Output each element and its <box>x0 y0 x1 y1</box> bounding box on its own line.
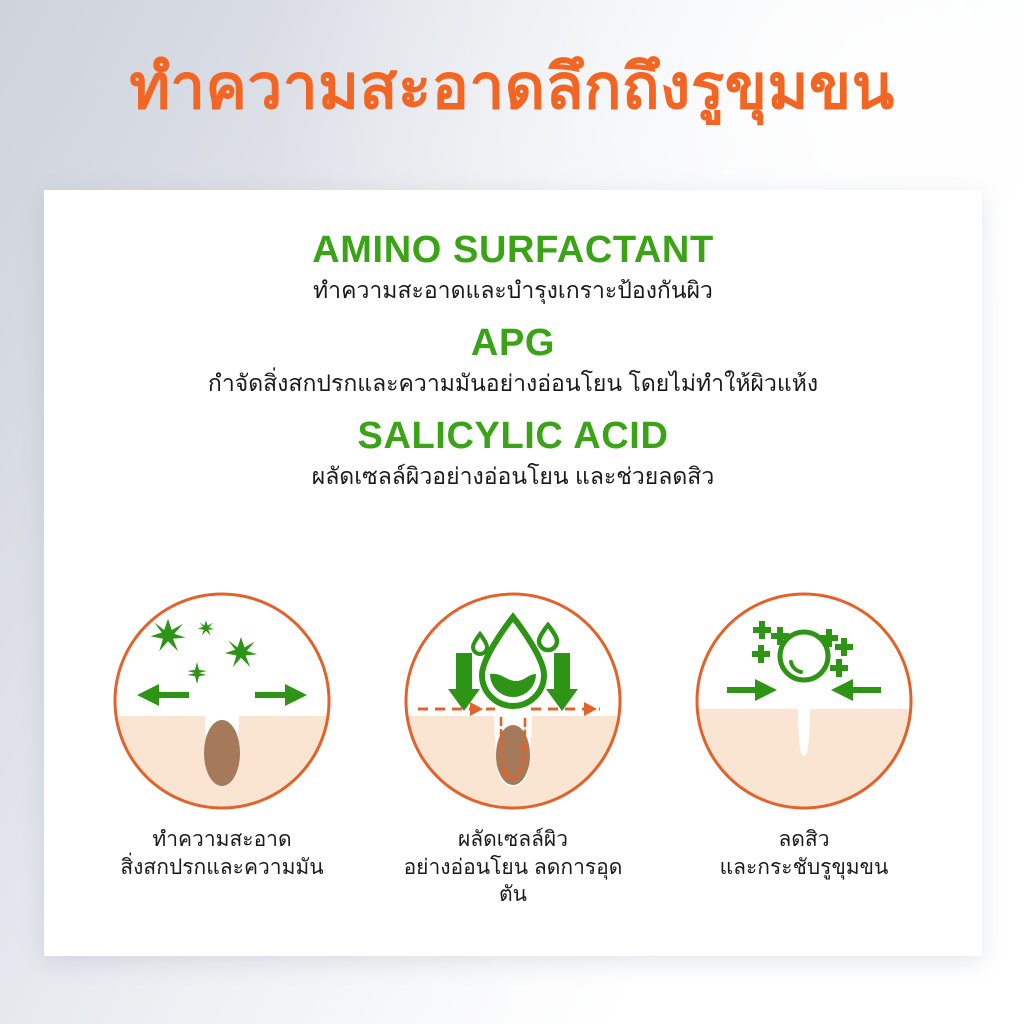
ingredient-item-amino-surfactant: AMINO SURFACTANT ทำความสะอาดและบำรุงเกรา… <box>44 228 982 307</box>
ingredient-description: ทำความสะอาดและบำรุงเกราะป้องกันผิว <box>44 274 982 307</box>
ingredient-description: กำจัดสิ่งสกปรกและความมันอย่างอ่อนโยน โดย… <box>44 367 982 400</box>
droplet-penetrating-pore-icon <box>402 590 624 812</box>
benefit-caption: ทำความสะอาด สิ่งสกปรกและความมัน <box>120 826 323 881</box>
benefit-panel-tighten: ลดสิว และกระชับรูขุมขน <box>686 590 922 909</box>
ingredient-item-salicylic-acid: SALICYLIC ACID ผลัดเซลล์ผิวอย่างอ่อนโยน … <box>44 414 982 493</box>
ingredient-name: SALICYLIC ACID <box>44 414 982 459</box>
clean-tightened-pore-icon <box>693 590 915 812</box>
benefit-panel-cleanse: ทำความสะอาด สิ่งสกปรกและความมัน <box>104 590 340 909</box>
ingredient-item-apg: APG กำจัดสิ่งสกปรกและความมันอย่างอ่อนโยน… <box>44 321 982 400</box>
ingredient-name: AMINO SURFACTANT <box>44 228 982 273</box>
ingredient-description: ผลัดเซลล์ผิวอย่างอ่อนโยน และช่วยลดสิว <box>44 460 982 493</box>
benefit-caption: ผลัดเซลล์ผิว อย่างอ่อนโยน ลดการอุดตัน <box>395 826 631 909</box>
benefit-panels: ทำความสะอาด สิ่งสกปรกและความมัน <box>104 590 922 909</box>
content-card: AMINO SURFACTANT ทำความสะอาดและบำรุงเกรา… <box>44 190 982 956</box>
page-title: ทำความสะอาดลึกถึงรูขุมขน <box>0 52 1024 123</box>
benefit-panel-exfoliate: ผลัดเซลล์ผิว อย่างอ่อนโยน ลดการอุดตัน <box>395 590 631 909</box>
ingredient-list: AMINO SURFACTANT ทำความสะอาดและบำรุงเกรา… <box>44 228 982 494</box>
ingredient-name: APG <box>44 321 982 366</box>
poster-root: ทำความสะอาดลึกถึงรูขุมขน AMINO SURFACTAN… <box>0 0 1024 1024</box>
pore-with-dirt-sparkles-outward-icon <box>111 590 333 812</box>
benefit-caption: ลดสิว และกระชับรูขุมขน <box>720 826 889 881</box>
